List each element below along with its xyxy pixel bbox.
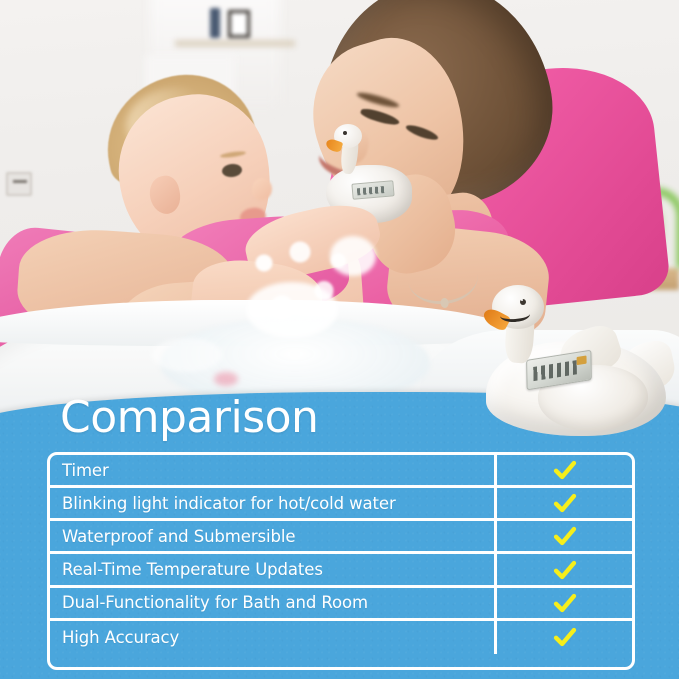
checkmark-icon (552, 523, 578, 549)
checkmark-icon (552, 557, 578, 583)
feature-check-cell (497, 521, 632, 551)
table-row: High Accuracy (50, 621, 632, 654)
table-row: Timer (50, 455, 632, 488)
checkmark-icon (552, 590, 578, 616)
feature-label: Real-Time Temperature Updates (50, 554, 497, 584)
table-row: Dual-Functionality for Bath and Room (50, 588, 632, 621)
feature-label: High Accuracy (50, 621, 497, 654)
feature-check-cell (497, 621, 632, 654)
lcd-unit-indicator (577, 356, 587, 366)
comparison-table: TimerBlinking light indicator for hot/co… (47, 452, 635, 670)
feature-label: Dual-Functionality for Bath and Room (50, 588, 497, 618)
lcd-digits (533, 360, 577, 381)
feature-check-cell (497, 488, 632, 518)
feature-check-cell (497, 554, 632, 584)
feature-label: Blinking light indicator for hot/cold wa… (50, 488, 497, 518)
page-title: Comparison (60, 395, 318, 442)
checkmark-icon (552, 490, 578, 516)
comparison-infographic: Comparison TimerBlinking light indicator… (0, 0, 679, 679)
feature-check-cell (497, 455, 632, 485)
checkmark-icon (552, 624, 578, 650)
feature-check-cell (497, 588, 632, 618)
feature-label: Waterproof and Submersible (50, 521, 497, 551)
swan-thermometer-product (478, 281, 676, 436)
swan-eye (520, 299, 526, 305)
checkmark-icon (552, 457, 578, 483)
table-row: Real-Time Temperature Updates (50, 554, 632, 587)
table-row: Waterproof and Submersible (50, 521, 632, 554)
table-row: Blinking light indicator for hot/cold wa… (50, 488, 632, 521)
feature-label: Timer (50, 455, 497, 485)
